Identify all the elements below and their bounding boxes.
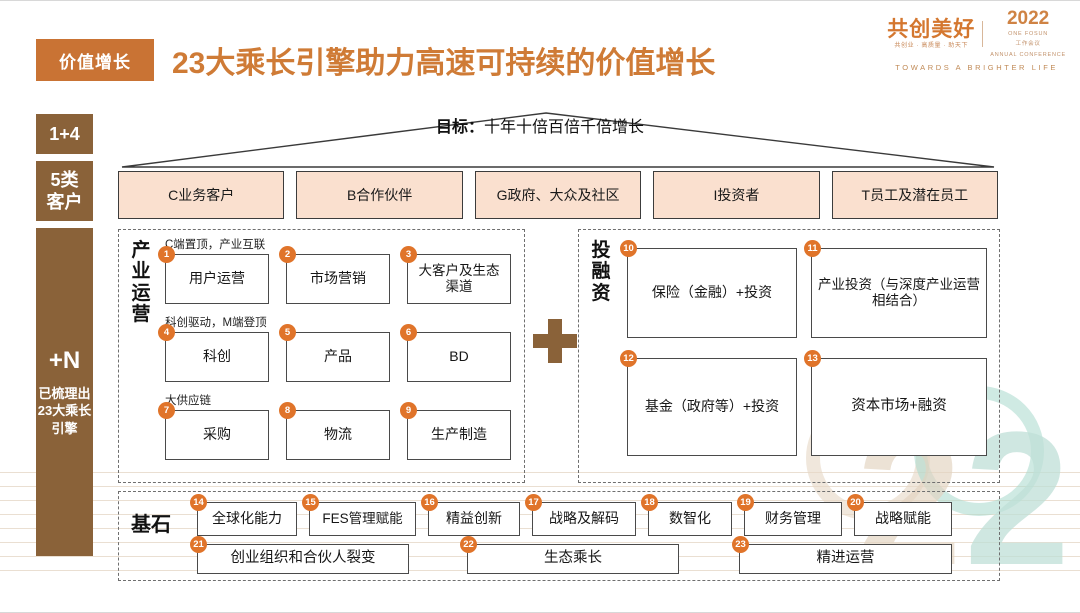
- logo-chinese-name: 共创美好: [887, 19, 975, 40]
- customer-category-row: C业务客户 B合作伙伴 G政府、大众及社区 I投资者 T员工及潜在员工: [118, 171, 998, 219]
- card-6-label: BD: [449, 348, 468, 365]
- card-15-label: FES管理赋能: [322, 511, 402, 527]
- card-3-label: 大客户及生态渠道: [412, 263, 506, 296]
- card-21-entrepreneurial-org[interactable]: 21 创业组织和合伙人裂变: [197, 544, 409, 574]
- card-7-procurement[interactable]: 7 采购: [165, 410, 269, 460]
- card-number-23: 23: [732, 536, 749, 553]
- card-22-ecosystem-growth[interactable]: 22 生态乘长: [467, 544, 679, 574]
- card-7-label: 采购: [203, 426, 231, 443]
- card-20-strategic-empowerment[interactable]: 20 战略赋能: [854, 502, 952, 536]
- panel-investment-financing: 投融资 10 保险（金融）+投资 11 产业投资（与深度产业运营相结合） 12 …: [578, 229, 1000, 483]
- logo-event-cn: 工作会议: [990, 40, 1066, 48]
- card-6-bd[interactable]: 6 BD: [407, 332, 511, 382]
- card-19-label: 财务管理: [765, 510, 821, 527]
- logo-tagline: TOWARDS A BRIGHTER LIFE: [887, 63, 1066, 72]
- card-8-label: 物流: [324, 426, 352, 443]
- card-16-label: 精益创新: [446, 510, 502, 527]
- card-number-8: 8: [279, 402, 296, 419]
- panel-foundation: 基石 14 全球化能力 15 FES管理赋能 16 精益创新 17 战略及解码 …: [118, 491, 1000, 581]
- card-18-label: 数智化: [669, 510, 711, 527]
- plus-symbol-icon: [533, 319, 577, 363]
- card-10-insurance-investment[interactable]: 10 保险（金融）+投资: [627, 248, 797, 338]
- card-14-globalization[interactable]: 14 全球化能力: [197, 502, 297, 536]
- logo-brand-en: ONE FOSUN: [990, 30, 1066, 38]
- customer-g[interactable]: G政府、大众及社区: [475, 171, 641, 219]
- logo-chinese-subtitle: 共创业 · 高质量 · 助天下: [887, 43, 975, 49]
- card-20-label: 战略赋能: [875, 510, 931, 527]
- card-11-label: 产业投资（与深度产业运营相结合）: [816, 277, 982, 310]
- card-1-label: 用户运营: [189, 270, 245, 287]
- conference-logo: 共创美好 共创业 · 高质量 · 助天下 2022 ONE FOSUN 工作会议…: [887, 9, 1066, 72]
- customer-t[interactable]: T员工及潜在员工: [832, 171, 998, 219]
- card-number-18: 18: [641, 494, 658, 511]
- goal-label: 目标：: [436, 119, 484, 136]
- card-4-tech-innovation[interactable]: 4 科创: [165, 332, 269, 382]
- card-number-16: 16: [421, 494, 438, 511]
- card-11-industrial-investment[interactable]: 11 产业投资（与深度产业运营相结合）: [811, 248, 987, 338]
- foundation-label: 基石: [131, 508, 171, 537]
- card-number-7: 7: [158, 402, 175, 419]
- card-number-2: 2: [279, 246, 296, 263]
- card-number-3: 3: [400, 246, 417, 263]
- rail-item-5-customers: 5类 客户: [36, 161, 93, 221]
- card-3-key-accounts[interactable]: 3 大客户及生态渠道: [407, 254, 511, 304]
- card-number-11: 11: [804, 240, 821, 257]
- card-18-digital-intelligence[interactable]: 18 数智化: [648, 502, 732, 536]
- card-number-13: 13: [804, 350, 821, 367]
- card-17-strategy-decoding[interactable]: 17 战略及解码: [532, 502, 636, 536]
- panel-finance-label: 投融资: [587, 240, 615, 304]
- card-number-1: 1: [158, 246, 175, 263]
- card-number-4: 4: [158, 324, 175, 341]
- goal-statement: 目标：十年十倍百倍千倍增长: [0, 113, 1080, 137]
- card-number-14: 14: [190, 494, 207, 511]
- card-9-manufacturing[interactable]: 9 生产制造: [407, 410, 511, 460]
- rail-item-plus-n: +N 已梳理出23大乘长引擎: [36, 228, 93, 556]
- card-number-12: 12: [620, 350, 637, 367]
- category-badge: 价值增长: [36, 39, 154, 81]
- card-15-fes-management[interactable]: 15 FES管理赋能: [309, 502, 416, 536]
- card-number-5: 5: [279, 324, 296, 341]
- card-number-21: 21: [190, 536, 207, 553]
- card-5-product[interactable]: 5 产品: [286, 332, 390, 382]
- card-22-label: 生态乘长: [544, 550, 602, 568]
- customer-c[interactable]: C业务客户: [118, 171, 284, 219]
- group-label-tech-driven: 科创驱动，M端登顶: [165, 314, 267, 330]
- card-number-22: 22: [460, 536, 477, 553]
- card-number-17: 17: [525, 494, 542, 511]
- card-12-label: 基金（政府等）+投资: [645, 398, 779, 415]
- card-5-label: 产品: [324, 348, 352, 365]
- card-2-marketing[interactable]: 2 市场营销: [286, 254, 390, 304]
- customer-b[interactable]: B合作伙伴: [296, 171, 462, 219]
- logo-divider: [982, 21, 983, 47]
- card-number-9: 9: [400, 402, 417, 419]
- card-number-10: 10: [620, 240, 637, 257]
- card-8-logistics[interactable]: 8 物流: [286, 410, 390, 460]
- card-14-label: 全球化能力: [212, 510, 282, 527]
- panel-operations-label: 产业运营: [127, 240, 155, 325]
- card-number-20: 20: [847, 494, 864, 511]
- card-23-refined-operations[interactable]: 23 精进运营: [739, 544, 952, 574]
- group-label-c-end: C端置顶，产业互联: [165, 236, 265, 252]
- card-19-financial-management[interactable]: 19 财务管理: [744, 502, 842, 536]
- card-9-label: 生产制造: [431, 426, 487, 443]
- goal-text: 十年十倍百倍千倍增长: [484, 119, 644, 136]
- card-2-label: 市场营销: [310, 270, 366, 287]
- customer-i[interactable]: I投资者: [653, 171, 819, 219]
- card-12-fund-investment[interactable]: 12 基金（政府等）+投资: [627, 358, 797, 456]
- rail-5-line1: 5类: [50, 169, 78, 192]
- slide-canvas: 2 2 价值增长 23大乘长引擎助力高速可持续的价值增长 共创美好 共创业 · …: [0, 0, 1080, 613]
- rail-plus-n-label: +N: [49, 347, 80, 375]
- card-4-label: 科创: [203, 348, 231, 365]
- panel-industrial-operations: 产业运营 C端置顶，产业互联 1 用户运营 2 市场营销 3 大客户及生态渠道 …: [118, 229, 525, 483]
- page-title: 23大乘长引擎助力高速可持续的价值增长: [172, 39, 715, 81]
- card-17-label: 战略及解码: [549, 510, 619, 527]
- card-1-user-operations[interactable]: 1 用户运营: [165, 254, 269, 304]
- card-10-label: 保险（金融）+投资: [652, 284, 772, 301]
- card-number-6: 6: [400, 324, 417, 341]
- logo-year: 2022: [990, 9, 1066, 28]
- card-13-capital-market[interactable]: 13 资本市场+融资: [811, 358, 987, 456]
- card-number-19: 19: [737, 494, 754, 511]
- card-number-15: 15: [302, 494, 319, 511]
- card-13-label: 资本市场+融资: [851, 398, 946, 416]
- card-23-label: 精进运营: [817, 550, 875, 568]
- rail-5-line2: 客户: [47, 191, 83, 214]
- rail-plus-n-note: 已梳理出23大乘长引擎: [36, 385, 93, 438]
- logo-event-en: ANNUAL CONFERENCE: [990, 51, 1066, 59]
- card-16-lean-innovation[interactable]: 16 精益创新: [428, 502, 520, 536]
- card-21-label: 创业组织和合伙人裂变: [231, 550, 376, 568]
